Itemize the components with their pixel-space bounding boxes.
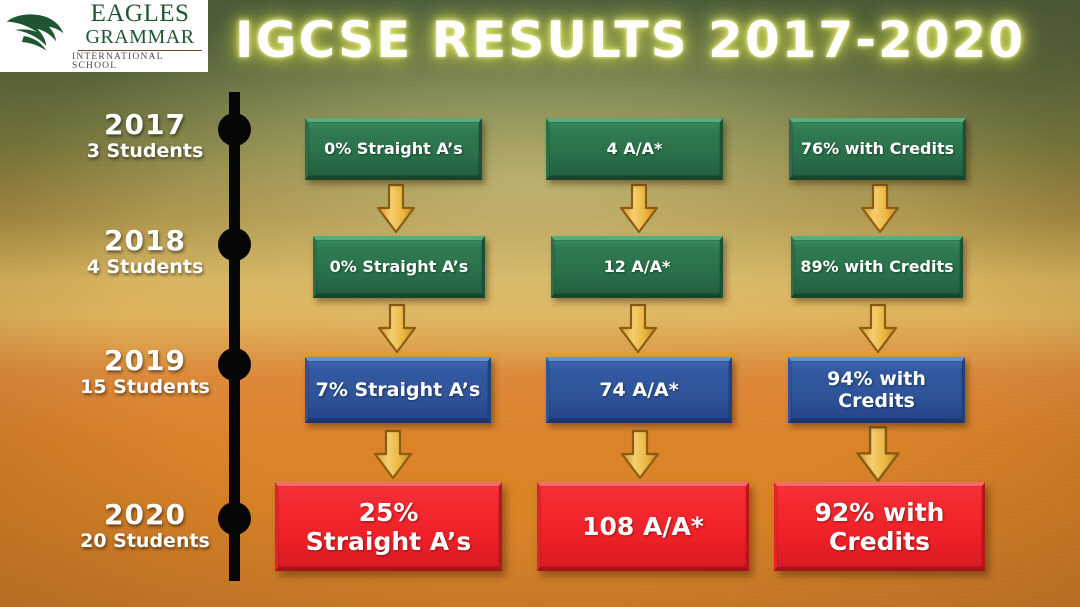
- arrow-down-icon: [853, 424, 903, 484]
- result-box-2020-credits[interactable]: 92% with Credits: [774, 482, 985, 571]
- school-logo: EAGLES GRAMMAR INTERNATIONAL SCHOOL: [0, 0, 208, 72]
- year-label-2018: 2018 4 Students: [70, 226, 220, 278]
- result-box-2018-credits[interactable]: 89% with Credits: [791, 236, 963, 298]
- arrow-down-icon: [616, 302, 660, 355]
- result-box-2017-straight-a[interactable]: 0% Straight A’s: [305, 118, 482, 180]
- arrow-down-icon: [375, 302, 419, 355]
- timeline-dot-2017: [218, 113, 251, 146]
- result-box-2019-credits[interactable]: 94% with Credits: [788, 357, 965, 423]
- year-number: 2017: [70, 110, 220, 139]
- result-box-2018-a-grades[interactable]: 12 A/A*: [551, 236, 723, 298]
- result-box-2018-straight-a[interactable]: 0% Straight A’s: [313, 236, 485, 298]
- year-student-count: 15 Students: [70, 378, 220, 398]
- arrow-down-icon: [371, 427, 415, 482]
- year-label-2017: 2017 3 Students: [70, 110, 220, 162]
- result-box-2020-a-grades[interactable]: 108 A/A*: [537, 482, 749, 571]
- arrow-down-icon: [617, 183, 661, 234]
- logo-line-3: INTERNATIONAL SCHOOL: [72, 53, 208, 72]
- year-number: 2018: [70, 226, 220, 255]
- year-label-2020: 2020 20 Students: [70, 500, 220, 552]
- timeline-dot-2019: [218, 348, 251, 381]
- year-student-count: 3 Students: [70, 142, 220, 162]
- slide-canvas: EAGLES GRAMMAR INTERNATIONAL SCHOOL IGCS…: [0, 0, 1080, 607]
- result-box-2017-a-grades[interactable]: 4 A/A*: [546, 118, 723, 180]
- slide-title: IGCSE RESULTS 2017-2020: [230, 11, 1030, 69]
- timeline-dot-2018: [218, 228, 251, 261]
- logo-line-1: EAGLES: [91, 1, 190, 26]
- result-box-2020-straight-a[interactable]: 25% Straight A’s: [275, 482, 502, 571]
- year-number: 2020: [70, 500, 220, 529]
- logo-line-2: GRAMMAR: [85, 27, 194, 47]
- timeline-dot-2020: [218, 502, 251, 535]
- year-number: 2019: [70, 346, 220, 375]
- logo-divider: [78, 50, 202, 51]
- result-box-2019-straight-a[interactable]: 7% Straight A’s: [305, 357, 491, 423]
- eagle-icon: [4, 8, 70, 64]
- year-label-2019: 2019 15 Students: [70, 346, 220, 398]
- result-box-2017-credits[interactable]: 76% with Credits: [789, 118, 966, 180]
- year-student-count: 20 Students: [70, 532, 220, 552]
- arrow-down-icon: [618, 427, 662, 482]
- result-box-2019-a-grades[interactable]: 74 A/A*: [546, 357, 732, 423]
- arrow-down-icon: [858, 183, 902, 234]
- arrow-down-icon: [374, 183, 418, 234]
- logo-wordmark: EAGLES GRAMMAR INTERNATIONAL SCHOOL: [72, 1, 208, 72]
- arrow-down-icon: [856, 302, 900, 355]
- year-student-count: 4 Students: [70, 258, 220, 278]
